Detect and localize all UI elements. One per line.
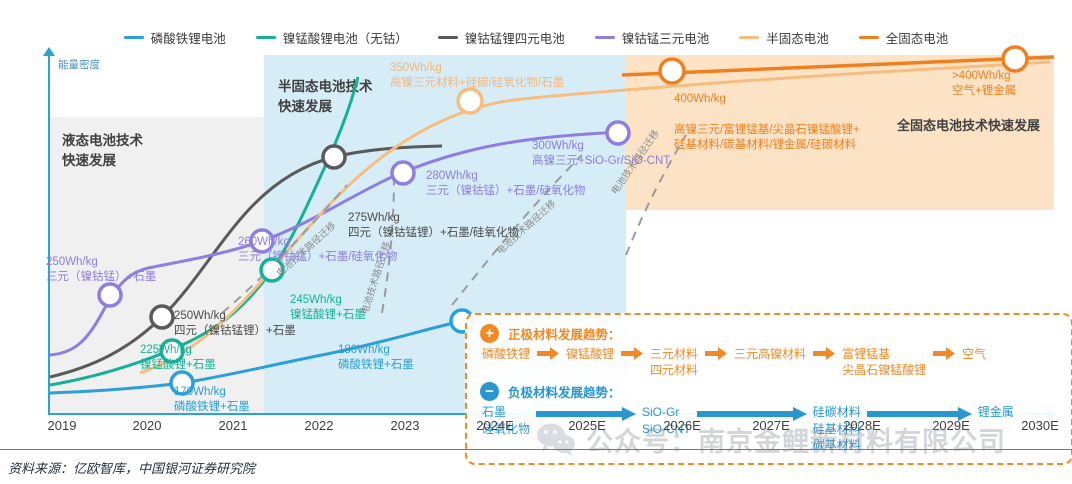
x-tick-2019: 2019 [48,418,77,433]
anode-header: − 负极材料发展趋势： [480,382,1058,401]
annotation-value-ncml-275: 275Wh/kg [348,211,519,226]
annotation-material-ncml-250: 四元（镍钴锰锂）+石墨 [174,324,296,339]
annotation-material-ncm-300: 高镍三元+SiO-Gr/SiO-CNT [532,154,670,169]
legend-swatch-lnmo [256,36,276,39]
annotation-ncm-250: 250Wh/kg 三元（镍钴锰）+石墨 [46,255,156,285]
legend-label-lfp: 磷酸铁锂电池 [151,28,226,47]
annotation-ncml-275: 275Wh/kg 四元（镍钴锰锂）+石墨/硅氧化物 [348,211,519,241]
cathode-flow: 磷酸铁锂 镍锰酸锂 三元材料 四元材料 三元高镍材料 富锂锰基 尖晶石镍锰酸锂 … [482,346,1058,378]
annotation-material-solid-400plus: 空气+锂金属 [952,84,1016,99]
x-tick-2021: 2021 [219,418,248,433]
cathode-header: + 正极材料发展趋势： [480,324,1058,343]
annotation-value-ncm-250: 250Wh/kg [46,255,156,270]
annotation-solid-400plus: >400Wh/kg 空气+锂金属 [952,69,1016,99]
annotation-material-lnmo-245: 镍锰酸锂+石墨 [290,308,366,323]
cathode-step-0: 磷酸铁锂 [482,346,530,362]
arrow-right-icon [621,347,643,360]
x-tick-2027E: 2027E [752,418,790,433]
annotation-lnmo-225: 225Wh/kg 镍锰酸锂+石墨 [140,343,216,373]
annotation-material-lnmo-225: 镍锰酸锂+石墨 [140,358,216,373]
x-tick-2029E: 2029E [932,418,970,433]
annotation-value-ncm-300: 300Wh/kg [532,139,670,154]
annotation-solid-400: 400Wh/kg 高镍三元/富锂锰基/尖晶石镍锰酸锂+ 硅基材料/碳基材料/锂金… [674,77,860,168]
arrow-right-icon [537,347,559,360]
x-tick-2025E: 2025E [568,418,606,433]
annotation-value-lnmo-245: 245Wh/kg [290,293,366,308]
legend-item-lfp: 磷酸铁锂电池 [124,28,226,47]
arrow-right-icon [813,347,835,360]
legend-swatch-semi-solid [739,36,759,39]
annotation-value-lnmo-225: 225Wh/kg [140,343,216,358]
arrow-right-icon [933,347,955,360]
anode-title: 负极材料发展趋势： [508,382,621,401]
source-note: 资料来源：亿欧智库，中国银河证券研究院 [8,458,255,477]
arrow-right-icon [705,347,727,360]
x-tick-2028E: 2028E [843,418,881,433]
legend-swatch-ncm [595,36,615,39]
cathode-step-4: 富锂锰基 尖晶石镍锰酸锂 [842,346,926,378]
cathode-title: 正极材料发展趋势： [508,324,621,343]
annotation-material-ncm-280: 三元（镍钴锰）+石墨/硅氧化物 [426,184,585,199]
legend-item-ncm: 镍钴锰三元电池 [595,28,710,47]
annotation-material-ncm-260: 三元（镍钴锰）+石墨/硅氧化物 [238,250,397,265]
annotation-lfp-170: 170Wh/kg 磷酸铁锂+石墨 [174,385,250,415]
annotation-value-solid-400: 400Wh/kg [674,92,860,107]
annotation-material-lfp-180: 磷酸铁锂+石墨 [338,358,414,373]
x-tick-2023: 2023 [391,418,420,433]
annotation-ncm-300: 300Wh/kg 高镍三元+SiO-Gr/SiO-CNT [532,139,670,169]
legend-item-lnmo: 镍锰酸锂电池（无钴） [256,28,408,47]
annotation-material-solid-400: 高镍三元/富锂锰基/尖晶石镍锰酸锂+ 硅基材料/碳基材料/锂金属/硅碳材料 [674,123,860,153]
legend-label-semi-solid: 半固态电池 [766,28,829,47]
x-tick-2022: 2022 [305,418,334,433]
cathode-step-3: 三元高镍材料 [734,346,806,362]
annotation-value-semi-350: 350Wh/kg [390,61,564,76]
cathode-step-2: 三元材料 四元材料 [650,346,698,378]
annotation-semi-350: 350Wh/kg 高镍三元材料+硅碳/硅氧化物/石墨 [390,61,564,91]
minus-icon: − [480,382,499,401]
annotation-value-lfp-170: 170Wh/kg [174,385,250,400]
annotation-lnmo-245: 245Wh/kg 镍锰酸锂+石墨 [290,293,366,323]
legend-item-ncml: 镍钴锰锂四元电池 [438,28,565,47]
legend-label-ncml: 镍钴锰锂四元电池 [465,28,565,47]
legend-item-semi-solid: 半固态电池 [739,28,829,47]
footer-divider [0,449,1072,450]
legend-label-solid: 全固态电池 [886,28,949,47]
annotation-value-ncm-280: 280Wh/kg [426,169,585,184]
cathode-step-5: 空气 [962,346,986,362]
legend-label-ncm: 镍钴锰三元电池 [622,28,710,47]
x-tick-2024E: 2024E [476,418,514,433]
legend-item-solid: 全固态电池 [859,28,949,47]
annotation-value-lfp-180: 180Wh/kg [338,343,414,358]
chart-plot-area: 液态电池技术 快速发展 半固态电池技术 快速发展 全固态电池技术快速发展 能量密… [22,55,1054,415]
annotation-value-solid-400plus: >400Wh/kg [952,69,1016,84]
legend-swatch-solid [859,36,879,39]
cathode-step-1: 镍锰酸锂 [566,346,614,362]
annotation-material-lfp-170: 磷酸铁锂+石墨 [174,400,250,415]
legend-label-lnmo: 镍锰酸锂电池（无钴） [283,28,408,47]
chart-legend: 磷酸铁锂电池 镍锰酸锂电池（无钴） 镍钴锰锂四元电池 镍钴锰三元电池 半固态电池… [0,26,1072,48]
x-tick-2030E: 2030E [1021,418,1059,433]
annotation-value-ncml-250: 250Wh/kg [174,309,296,324]
annotation-lfp-180: 180Wh/kg 磷酸铁锂+石墨 [338,343,414,373]
annotation-material-semi-350: 高镍三元材料+硅碳/硅氧化物/石墨 [390,76,564,91]
plus-icon: + [480,324,499,343]
x-tick-2026E: 2026E [663,418,701,433]
annotation-material-ncm-250: 三元（镍钴锰）+石墨 [46,270,156,285]
annotation-material-ncml-275: 四元（镍钴锰锂）+石墨/硅氧化物 [348,226,519,241]
legend-swatch-ncml [438,36,458,39]
legend-swatch-lfp [124,36,144,39]
materials-trend-box: + 正极材料发展趋势： 磷酸铁锂 镍锰酸锂 三元材料 四元材料 三元高镍材料 富… [465,313,1072,465]
x-tick-2020: 2020 [133,418,162,433]
annotation-ncm-280: 280Wh/kg 三元（镍钴锰）+石墨/硅氧化物 [426,169,585,199]
annotation-ncml-250: 250Wh/kg 四元（镍钴锰锂）+石墨 [174,309,296,339]
x-axis-tick-labels: 2019 2020 2021 2022 2023 2024E 2025E 202… [22,418,1054,440]
